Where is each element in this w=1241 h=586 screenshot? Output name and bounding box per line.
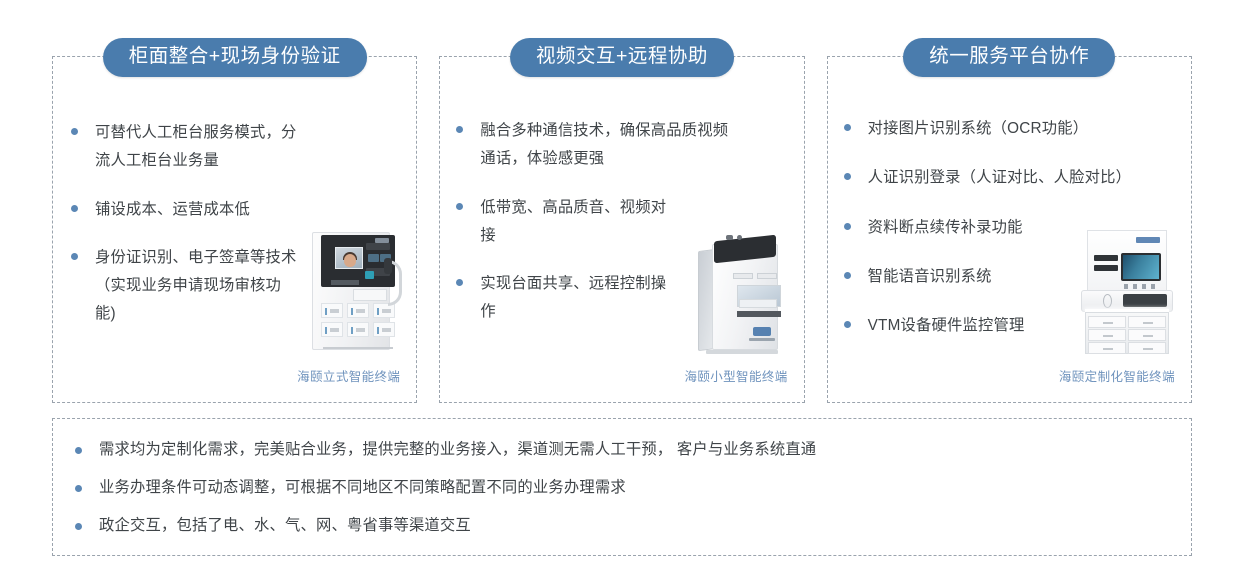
- drawer-cell: [347, 303, 369, 318]
- column-3-panel: 对接图片识别系统（OCR功能） 人证识别登录（人证对比、人脸对比） 资料断点续传…: [827, 56, 1192, 403]
- card-reader-strip: [331, 280, 359, 285]
- bullet-text: 实现台面共享、远程控制操作: [480, 270, 675, 327]
- pen-holder-icon: [1103, 294, 1112, 308]
- list-item: 对接图片识别系统（OCR功能）: [844, 115, 1181, 143]
- drawer: [1088, 329, 1126, 341]
- bullet-text: 需求均为定制化需求，完美贴合业务，提供完整的业务接入，渠道测无需人工干预， 客户…: [99, 439, 816, 462]
- bullet-dot-icon: [844, 173, 851, 180]
- drawer-cabinet: [1085, 312, 1169, 354]
- list-item: 需求均为定制化需求，完美贴合业务，提供完整的业务接入，渠道测无需人工干预， 客户…: [75, 439, 1173, 462]
- drawer-cell: [321, 322, 343, 337]
- drawer-cell: [347, 322, 369, 337]
- bullet-dot-icon: [844, 124, 851, 131]
- feature-column-3: 对接图片识别系统（OCR功能） 人证识别登录（人证对比、人脸对比） 资料断点续传…: [827, 38, 1192, 403]
- terminal-display: [1121, 253, 1161, 281]
- control-icons: [1124, 284, 1158, 289]
- list-item: 人证识别登录（人证对比、人脸对比）: [844, 164, 1181, 192]
- column-1-title: 柜面整合+现场身份验证: [103, 38, 367, 77]
- feature-columns: 可替代人工柜台服务模式，分流人工柜台业务量 铺设成本、运营成本低 身份证识别、电…: [52, 38, 1192, 403]
- brand-logo-text: [749, 338, 775, 341]
- bullet-dot-icon: [75, 485, 82, 492]
- card-slot: [733, 273, 753, 279]
- bullet-text: VTM设备硬件监控管理: [868, 312, 1025, 340]
- drawer-grid: [321, 303, 395, 343]
- card-slot: [1094, 265, 1118, 271]
- bullet-text: 身份证识别、电子签章等技术（实现业务申请现场审核功能): [95, 244, 300, 329]
- drawer: [1128, 329, 1166, 341]
- bullet-text: 智能语音识别系统: [868, 263, 992, 291]
- bullet-dot-icon: [71, 253, 78, 260]
- bullet-text: 人证识别登录（人证对比、人脸对比）: [868, 164, 1131, 192]
- list-item: 可替代人工柜台服务模式，分流人工柜台业务量: [71, 119, 406, 176]
- bullet-text: 可替代人工柜台服务模式，分流人工柜台业务量: [95, 119, 300, 176]
- column-2-panel: 融合多种通信技术，确保高品质视频通话，体验感更强 低带宽、高品质音、视频对接 实…: [439, 56, 804, 403]
- drawer: [1128, 316, 1166, 328]
- column-2-title: 视频交互+远程协助: [510, 38, 734, 77]
- bullet-text: 铺设成本、运营成本低: [95, 196, 250, 224]
- list-item: 铺设成本、运营成本低: [71, 196, 406, 224]
- column-3-title: 统一服务平台协作: [903, 38, 1115, 77]
- terminal-base: [706, 350, 778, 354]
- device-caption: 海颐立式智能终端: [297, 366, 400, 385]
- bullet-dot-icon: [844, 272, 851, 279]
- terminal-body: [312, 232, 390, 350]
- bullet-text: 融合多种通信技术，确保高品质视频通话，体验感更强: [480, 117, 742, 174]
- document-tray: [353, 289, 387, 301]
- signature-pad: [1123, 294, 1167, 307]
- list-item: 业务办理条件可动态调整，可根据不同地区不同策略配置不同的业务办理需求: [75, 477, 1173, 500]
- bullet-dot-icon: [75, 523, 82, 530]
- screen-accent-key: [365, 271, 374, 279]
- device-caption: 海颐小型智能终端: [684, 366, 787, 385]
- small-smart-terminal-image: [696, 234, 792, 354]
- customized-smart-terminal-image: [1075, 230, 1177, 354]
- list-item: 融合多种通信技术，确保高品质视频通话，体验感更强: [456, 117, 793, 174]
- drawer-cell: [321, 303, 343, 318]
- screen-button: [368, 254, 379, 262]
- column-1-panel: 可替代人工柜台服务模式，分流人工柜台业务量 铺设成本、运营成本低 身份证识别、电…: [52, 56, 417, 403]
- bullet-dot-icon: [844, 223, 851, 230]
- brand-logo-mark: [1136, 237, 1160, 243]
- terminal-base: [323, 345, 393, 349]
- card-slot: [1094, 255, 1118, 261]
- terminal-back-panel: [1087, 230, 1167, 292]
- slide-root: 可替代人工柜台服务模式，分流人工柜台业务量 铺设成本、运营成本低 身份证识别、电…: [0, 0, 1241, 586]
- bullet-text: 业务办理条件可动态调整，可根据不同地区不同策略配置不同的业务办理需求: [99, 477, 626, 500]
- avatar-face: [344, 254, 356, 267]
- handset-icon: [384, 258, 392, 274]
- bullet-text: 资料断点续传补录功能: [868, 214, 1023, 242]
- device-caption: 海颐定制化智能终端: [1059, 366, 1175, 385]
- bullet-dot-icon: [844, 321, 851, 328]
- bullet-dot-icon: [75, 447, 82, 454]
- standing-smart-terminal-image: [306, 232, 402, 350]
- summary-bullet-list: 需求均为定制化需求，完美贴合业务，提供完整的业务接入，渠道测无需人工干预， 客户…: [75, 439, 1173, 553]
- bullet-dot-icon: [456, 126, 463, 133]
- screen-button: [366, 243, 390, 250]
- display-window-lower: [739, 299, 777, 308]
- card-slot: [757, 273, 777, 279]
- list-item: 政企交互，包括了电、水、气、网、粤省事等渠道交互: [75, 515, 1173, 538]
- video-call-preview: [335, 247, 363, 269]
- bullet-dot-icon: [71, 205, 78, 212]
- bullet-dot-icon: [456, 279, 463, 286]
- summary-panel: 需求均为定制化需求，完美贴合业务，提供完整的业务接入，渠道测无需人工干预， 客户…: [52, 418, 1192, 556]
- bullet-text: 政企交互，包括了电、水、气、网、粤省事等渠道交互: [99, 515, 471, 538]
- bullet-dot-icon: [456, 203, 463, 210]
- bullet-text: 对接图片识别系统（OCR功能）: [868, 115, 1089, 143]
- top-camera-icon: [737, 235, 742, 240]
- drawer: [1088, 342, 1126, 354]
- drawer: [1088, 316, 1126, 328]
- drawer-cell: [373, 322, 395, 337]
- bullet-text: 低带宽、高品质音、视频对接: [480, 194, 675, 251]
- brand-logo-mark: [753, 327, 771, 336]
- bullet-dot-icon: [71, 128, 78, 135]
- feature-column-1: 可替代人工柜台服务模式，分流人工柜台业务量 铺设成本、运营成本低 身份证识别、电…: [52, 38, 417, 403]
- top-sensor: [726, 235, 733, 240]
- drawer: [1128, 342, 1166, 354]
- feature-column-2: 融合多种通信技术，确保高品质视频通话，体验感更强 低带宽、高品质音、视频对接 实…: [439, 38, 804, 403]
- output-tray: [737, 311, 781, 317]
